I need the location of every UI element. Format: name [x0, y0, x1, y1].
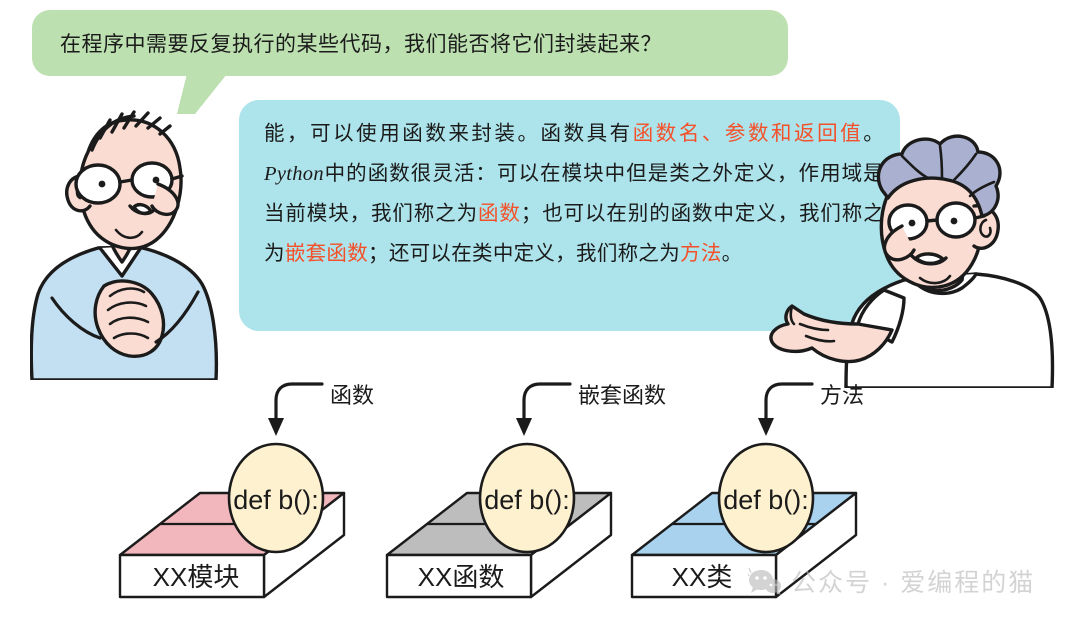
- answer-segment-5: 函数: [478, 202, 521, 225]
- answer-segment-7: 嵌套函数: [285, 242, 368, 265]
- callout-label-method: 方法: [820, 378, 864, 410]
- question-text: 在程序中需要反复执行的某些代码，我们能否将它们封装起来？: [60, 10, 768, 76]
- answer-segment-0: 能，可以使用函数来封装。函数具有: [264, 122, 633, 145]
- box-label-module: XX模块: [153, 562, 240, 592]
- illustration-canvas: 在程序中需要反复执行的某些代码，我们能否将它们封装起来？ 能，可以使用函数来封装…: [0, 0, 1080, 621]
- def-circle-label-function: def b():: [484, 485, 570, 515]
- answer-segment-3: Python: [264, 163, 324, 185]
- answer-segment-9: 方法: [680, 242, 722, 265]
- arrowhead-module: [268, 418, 284, 436]
- question-speech-bubble: 在程序中需要反复执行的某些代码，我们能否将它们封装起来？: [32, 10, 788, 76]
- callout-label-nested-function: 嵌套函数: [578, 378, 666, 410]
- answering-man-figure: [762, 128, 1080, 388]
- box-label-class: XX类: [672, 562, 733, 592]
- asking-man-figure: [30, 80, 260, 380]
- def-circle-label-class: def b():: [723, 485, 809, 515]
- answer-segment-10: 。: [722, 242, 743, 265]
- box-label-function: XX函数: [418, 562, 505, 592]
- arrowhead-class: [758, 418, 774, 436]
- watermark: 公众号 · 爱编程的猫: [748, 563, 1035, 599]
- wechat-cat-icon: [748, 566, 782, 596]
- answer-segment-8: ；还可以在类中定义，我们称之为: [368, 242, 680, 265]
- def-circle-label-module: def b():: [233, 485, 319, 515]
- watermark-text: 公众号 · 爱编程的猫: [791, 563, 1035, 599]
- arrowhead-function: [516, 418, 532, 436]
- callout-label-function: 函数: [330, 378, 374, 410]
